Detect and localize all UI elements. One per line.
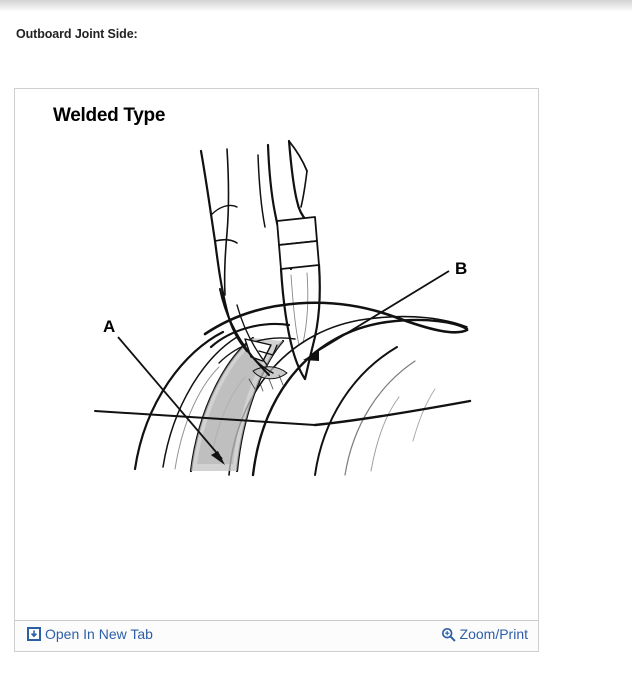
callout-b-leader-line: [311, 271, 449, 355]
top-gradient-strip: [0, 0, 632, 12]
page-heading: Outboard Joint Side:: [16, 27, 138, 41]
callout-b-label: B: [455, 259, 467, 278]
technical-illustration: A B: [15, 89, 538, 620]
open-in-new-tab-label: Open In New Tab: [45, 626, 153, 642]
figure-toolbar: Open In New Tab Zoom/Print: [15, 620, 538, 651]
callout-b: B: [303, 259, 467, 361]
callout-a-label: A: [103, 317, 115, 336]
zoom-print-button[interactable]: Zoom/Print: [441, 626, 528, 642]
zoom-print-label: Zoom/Print: [460, 626, 528, 642]
figure-canvas: Welded Type: [15, 89, 538, 620]
callout-a-leader-line: [118, 337, 222, 459]
open-in-new-tab-icon: [27, 627, 41, 641]
open-in-new-tab-button[interactable]: Open In New Tab: [27, 626, 153, 642]
figure-frame: Welded Type: [14, 88, 539, 652]
magnifier-plus-icon: [441, 627, 456, 642]
